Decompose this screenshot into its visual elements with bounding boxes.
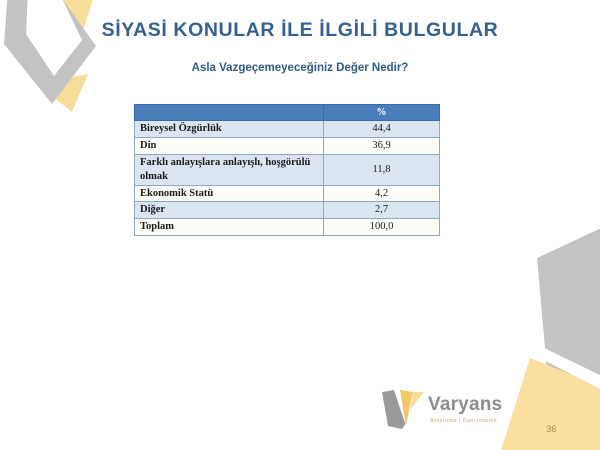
header-cell-percent: % xyxy=(324,105,440,121)
page-number: 36 xyxy=(546,424,557,435)
varyans-v-mark-icon xyxy=(380,388,426,430)
row-label: Toplam xyxy=(135,219,324,236)
top-left-yellow-chevron xyxy=(40,0,96,112)
row-value: 2,7 xyxy=(324,202,440,219)
table-row-total: Toplam 100,0 xyxy=(135,219,440,236)
varyans-logo: Varyans Araştırma | Danışmanlık xyxy=(380,388,510,436)
table-row: Din 36,9 xyxy=(135,138,440,155)
row-value: 4,2 xyxy=(324,185,440,202)
row-label: Diğer xyxy=(135,202,324,219)
table-row: Diğer 2,7 xyxy=(135,202,440,219)
row-label: Ekonomik Statü xyxy=(135,185,324,202)
table-header-row: % xyxy=(135,105,440,121)
row-label: Farklı anlayışlara anlayışlı, hoşgörülü … xyxy=(135,154,324,185)
bottom-right-white-stripe xyxy=(528,346,600,394)
bottom-right-gray-triangle xyxy=(537,224,600,398)
row-label: Bireysel Özgürlük xyxy=(135,121,324,138)
results-table: % Bireysel Özgürlük 44,4 Din 36,9 Farklı… xyxy=(134,104,440,236)
row-value: 36,9 xyxy=(324,138,440,155)
top-left-gray-chevron xyxy=(4,0,96,104)
slide: SİYASİ KONULAR İLE İLGİLİ BULGULAR Asla … xyxy=(0,0,600,450)
logo-tagline: Araştırma | Danışmanlık xyxy=(430,418,497,424)
row-value: 44,4 xyxy=(324,121,440,138)
table-row: Bireysel Özgürlük 44,4 xyxy=(135,121,440,138)
row-value: 100,0 xyxy=(324,219,440,236)
bottom-right-yellow-triangle xyxy=(498,358,600,450)
table-row: Ekonomik Statü 4,2 xyxy=(135,185,440,202)
logo-wordmark: Varyans xyxy=(428,394,502,416)
row-label: Din xyxy=(135,138,324,155)
page-subtitle: Asla Vazgeçemeyeceğiniz Değer Nedir? xyxy=(0,62,600,74)
table-header: % xyxy=(135,105,440,121)
header-cell-label xyxy=(135,105,324,121)
table-body: Bireysel Özgürlük 44,4 Din 36,9 Farklı a… xyxy=(135,121,440,236)
page-title: SİYASİ KONULAR İLE İLGİLİ BULGULAR xyxy=(0,19,600,42)
table-row: Farklı anlayışlara anlayışlı, hoşgörülü … xyxy=(135,154,440,185)
results-table-container: % Bireysel Özgürlük 44,4 Din 36,9 Farklı… xyxy=(134,104,440,236)
row-value: 11,8 xyxy=(324,154,440,185)
